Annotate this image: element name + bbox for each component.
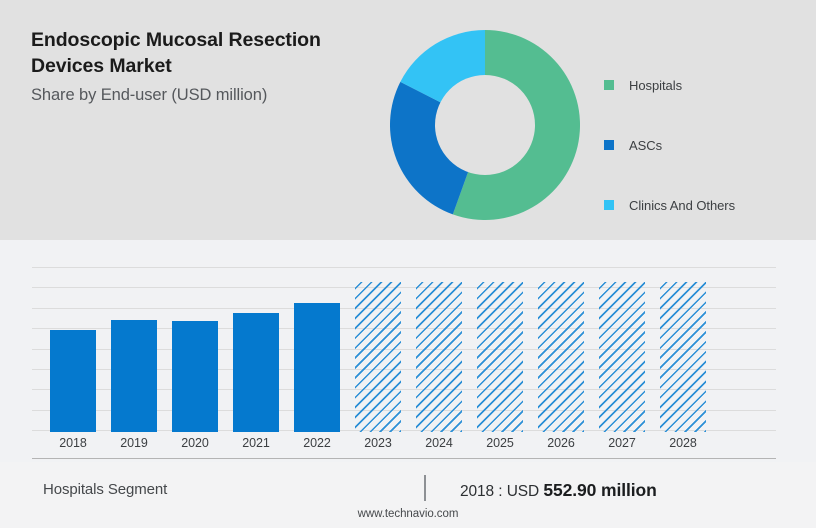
- legend-label-ascs: ASCs: [629, 138, 662, 153]
- x-axis-label-2025: 2025: [471, 436, 529, 450]
- header-panel: Endoscopic Mucosal Resection Devices Mar…: [0, 0, 816, 240]
- footer: Hospitals Segment 2018 : USD 552.90 mill…: [0, 462, 816, 528]
- x-axis-label-2018: 2018: [44, 436, 102, 450]
- page-title-line-2: Devices Market: [31, 55, 172, 77]
- footer-value: 2018 : USD 552.90 million: [460, 480, 657, 501]
- footer-segment-label: Hospitals Segment: [43, 481, 167, 498]
- legend-item-clinics-and-others[interactable]: Clinics And Others: [604, 175, 804, 235]
- bar-series: [32, 267, 776, 432]
- legend-swatch-ascs: [604, 140, 614, 150]
- donut-center-hole: [435, 75, 535, 175]
- donut-chart-svg: [390, 30, 580, 220]
- x-axis-label-2028: 2028: [654, 436, 712, 450]
- legend-item-ascs[interactable]: ASCs: [604, 115, 804, 175]
- bar-2025[interactable]: [477, 282, 523, 432]
- footer-value-prefix: 2018 : USD: [460, 483, 539, 500]
- x-axis-labels: 2018201920202021202220232024202520262027…: [32, 432, 776, 460]
- legend-swatch-clinics-and-others: [604, 200, 614, 210]
- page-title-line-1: Endoscopic Mucosal Resection: [31, 29, 321, 51]
- page-title: Endoscopic Mucosal Resection Devices Mar…: [31, 28, 371, 80]
- x-axis-label-2026: 2026: [532, 436, 590, 450]
- footer-value-amount: 552.90 million: [543, 480, 656, 500]
- infographic-page: Endoscopic Mucosal Resection Devices Mar…: [0, 0, 816, 528]
- legend-swatch-hospitals: [604, 80, 614, 90]
- bar-2021[interactable]: [233, 313, 279, 432]
- bar-chart-plot-area: [32, 267, 776, 459]
- legend-item-hospitals[interactable]: Hospitals: [604, 55, 804, 115]
- x-axis-label-2022: 2022: [288, 436, 346, 450]
- bar-chart-panel: 2018201920202021202220232024202520262027…: [0, 240, 816, 462]
- legend: Hospitals ASCs Clinics And Others: [604, 55, 804, 235]
- bar-2027[interactable]: [599, 282, 645, 432]
- x-axis-label-2027: 2027: [593, 436, 651, 450]
- page-subtitle: Share by End-user (USD million): [31, 86, 371, 105]
- bar-2022[interactable]: [294, 303, 340, 432]
- x-axis-label-2020: 2020: [166, 436, 224, 450]
- bar-2026[interactable]: [538, 282, 584, 432]
- x-axis-label-2023: 2023: [349, 436, 407, 450]
- donut-chart: [390, 30, 580, 220]
- footer-divider: [424, 475, 426, 501]
- bar-2018[interactable]: [50, 330, 96, 432]
- bar-2023[interactable]: [355, 282, 401, 432]
- bar-2020[interactable]: [172, 321, 218, 432]
- x-axis-label-2021: 2021: [227, 436, 285, 450]
- title-block: Endoscopic Mucosal Resection Devices Mar…: [31, 28, 371, 105]
- footer-url: www.technavio.com: [0, 508, 816, 520]
- bar-2028[interactable]: [660, 282, 706, 432]
- legend-label-clinics-and-others: Clinics And Others: [629, 198, 735, 213]
- bar-2024[interactable]: [416, 282, 462, 432]
- legend-label-hospitals: Hospitals: [629, 78, 682, 93]
- bar-2019[interactable]: [111, 320, 157, 432]
- x-axis-label-2019: 2019: [105, 436, 163, 450]
- x-axis-label-2024: 2024: [410, 436, 468, 450]
